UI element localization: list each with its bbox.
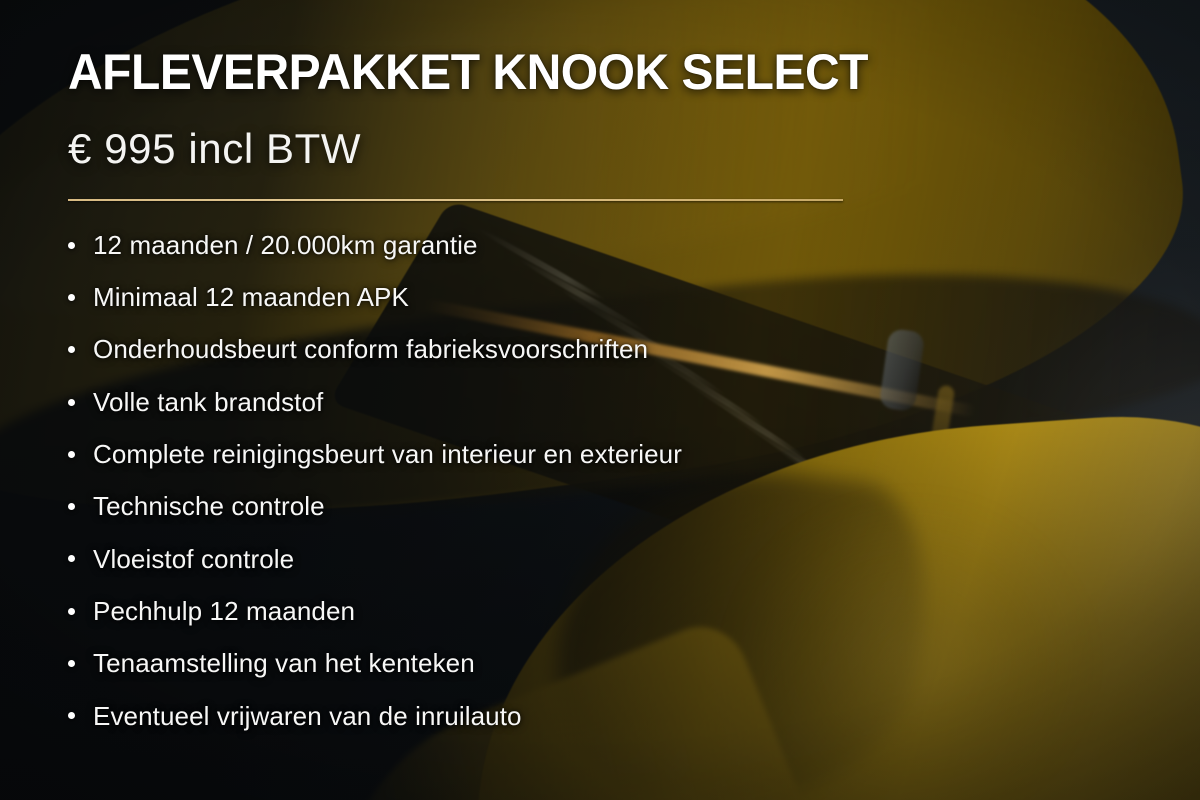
list-item: Tenaamstelling van het kenteken <box>68 637 1028 689</box>
title-divider <box>68 199 843 201</box>
bullet-dot-icon <box>68 294 75 301</box>
bullet-dot-icon <box>68 503 75 510</box>
list-item: Pechhulp 12 maanden <box>68 585 1028 637</box>
list-item-label: 12 maanden / 20.000km garantie <box>93 231 478 260</box>
list-item-label: Pechhulp 12 maanden <box>93 597 355 626</box>
afleverpakket-banner: AFLEVERPAKKET KNOOK SELECT € 995 incl BT… <box>0 0 1200 800</box>
feature-list: 12 maanden / 20.000km garantieMinimaal 1… <box>68 219 1028 742</box>
list-item-label: Eventueel vrijwaren van de inruilauto <box>93 702 522 731</box>
list-item: Eventueel vrijwaren van de inruilauto <box>68 690 1028 742</box>
list-item: Volle tank brandstof <box>68 376 1028 428</box>
list-item: Technische controle <box>68 480 1028 532</box>
bullet-dot-icon <box>68 242 75 249</box>
list-item-label: Technische controle <box>93 492 325 521</box>
bullet-dot-icon <box>68 555 75 562</box>
price-subtitle: € 995 incl BTW <box>68 128 361 170</box>
banner-content: AFLEVERPAKKET KNOOK SELECT € 995 incl BT… <box>0 0 1200 800</box>
bullet-dot-icon <box>68 608 75 615</box>
bullet-dot-icon <box>68 660 75 667</box>
list-item-label: Volle tank brandstof <box>93 388 323 417</box>
list-item-label: Minimaal 12 maanden APK <box>93 283 409 312</box>
bullet-dot-icon <box>68 399 75 406</box>
list-item-label: Tenaamstelling van het kenteken <box>93 649 475 678</box>
list-item-label: Complete reinigingsbeurt van interieur e… <box>93 440 682 469</box>
bullet-dot-icon <box>68 451 75 458</box>
page-title: AFLEVERPAKKET KNOOK SELECT <box>68 47 868 97</box>
list-item: Vloeistof controle <box>68 533 1028 585</box>
bullet-dot-icon <box>68 712 75 719</box>
list-item: Minimaal 12 maanden APK <box>68 271 1028 323</box>
list-item: Complete reinigingsbeurt van interieur e… <box>68 428 1028 480</box>
list-item: 12 maanden / 20.000km garantie <box>68 219 1028 271</box>
list-item-label: Vloeistof controle <box>93 545 294 574</box>
list-item: Onderhoudsbeurt conform fabrieksvoorschr… <box>68 324 1028 376</box>
bullet-dot-icon <box>68 346 75 353</box>
list-item-label: Onderhoudsbeurt conform fabrieksvoorschr… <box>93 335 648 364</box>
